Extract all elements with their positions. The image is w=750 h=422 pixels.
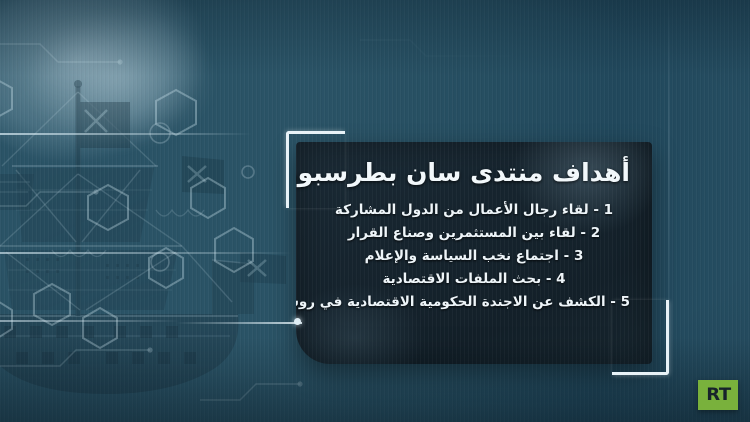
list-item: 5 - الكشف عن الاجندة الحكومية الاقتصادية… [318, 291, 630, 314]
panel-connector-line [176, 322, 302, 324]
rt-channel-logo: RT [698, 380, 738, 410]
list-item: 2 - لقاء بين المستثمرين وصناع القرار [318, 222, 630, 245]
objectives-list: 1 - لقاء رجال الأعمال من الدول المشاركة … [318, 199, 630, 314]
accent-line-vertical-right [668, 0, 670, 422]
accent-line-top [0, 133, 252, 135]
broadcast-graphic: أهداف منتدى سان بطرسبورغ 1 - لقاء رجال ا… [0, 0, 750, 422]
panel-title: أهداف منتدى سان بطرسبورغ [318, 158, 630, 189]
list-item: 3 - اجتماع نخب السياسة والإعلام [318, 245, 630, 268]
list-item: 1 - لقاء رجال الأعمال من الدول المشاركة [318, 199, 630, 222]
panel-connector-node [294, 318, 301, 325]
accent-line-middle [0, 252, 292, 254]
list-item: 4 - بحث الملفات الاقتصادية [318, 268, 630, 291]
rt-logo-text: RT [706, 387, 730, 404]
accent-line-bottom [0, 320, 180, 322]
